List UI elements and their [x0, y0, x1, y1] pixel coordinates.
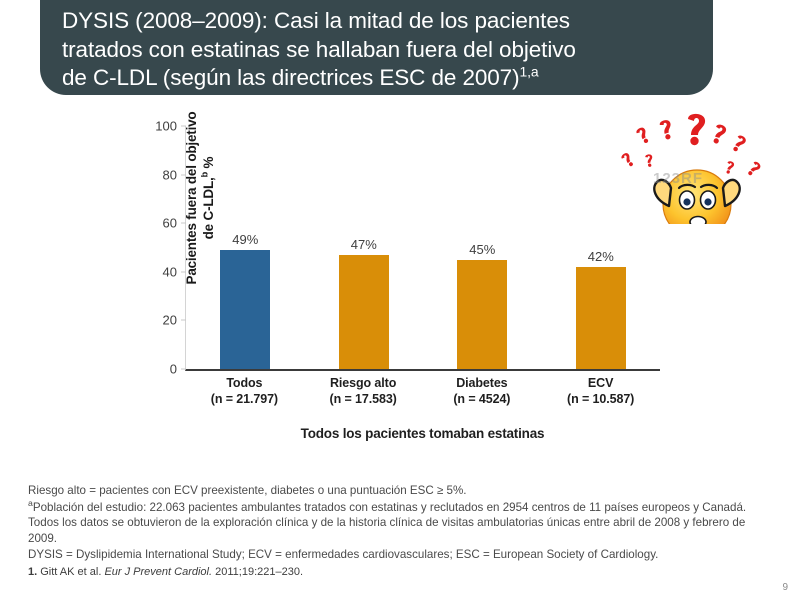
footnotes-block: Riesgo alto = pacientes con ECV preexist…: [28, 483, 776, 581]
bar-value-label: 49%: [232, 232, 258, 247]
plot-frame: 100806040200 49%47%45%42%: [185, 126, 660, 371]
reference-authors: Gitt AK et al.: [37, 566, 104, 578]
x-axis-category-labels: Todos(n = 21.797)Riesgo alto(n = 17.583)…: [185, 375, 660, 407]
bar-chart: Pacientes fuera del objetivo de C-LDL,b …: [100, 118, 680, 463]
reference-citation: 1. Gitt AK et al. Eur J Prevent Cardiol.…: [28, 565, 776, 581]
title-line-2: tratados con estatinas se hallaban fuera…: [62, 37, 576, 62]
bar[interactable]: [457, 260, 507, 369]
category-name: Todos: [185, 375, 304, 391]
category-sample-size: (n = 17.583): [304, 391, 423, 407]
category-name: Riesgo alto: [304, 375, 423, 391]
category-sample-size: (n = 4524): [423, 391, 542, 407]
page-number: 9: [782, 582, 788, 593]
category-name: ECV: [541, 375, 660, 391]
x-axis-category-label: Todos(n = 21.797): [185, 375, 304, 407]
x-axis-category-label: ECV(n = 10.587): [541, 375, 660, 407]
bar-value-label: 47%: [351, 237, 377, 252]
x-axis-category-label: Diabetes(n = 4524): [423, 375, 542, 407]
bar-series: 49%47%45%42%: [186, 126, 660, 369]
footnote-line-2: aPoblación del estudio: 22.063 pacientes…: [28, 500, 776, 547]
reference-journal: Eur J Prevent Cardiol.: [104, 566, 212, 578]
category-name: Diabetes: [423, 375, 542, 391]
category-sample-size: (n = 10.587): [541, 391, 660, 407]
confused-emoji-icon: 123RF: [605, 112, 795, 224]
bar-value-label: 42%: [588, 249, 614, 264]
footnote-line-2-text: Población del estudio: 22.063 pacientes …: [28, 501, 746, 545]
bar-group: 49%: [186, 126, 305, 369]
footnote-abbreviations: DYSIS = Dyslipidemia International Study…: [28, 547, 776, 563]
reference-number: 1.: [28, 566, 37, 578]
title-superscript: 1,a: [520, 64, 539, 80]
title-line-1: DYSIS (2008–2009): Casi la mitad de los …: [62, 8, 570, 33]
x-axis-category-label: Riesgo alto(n = 17.583): [304, 375, 423, 407]
slide-title-banner: DYSIS (2008–2009): Casi la mitad de los …: [40, 0, 713, 95]
bar[interactable]: [339, 255, 389, 369]
plot-area: 100806040200 49%47%45%42%: [185, 126, 660, 371]
bar-value-label: 45%: [469, 242, 495, 257]
footnote-line-1: Riesgo alto = pacientes con ECV preexist…: [28, 483, 776, 499]
title-line-3: de C-LDL (según las directrices ESC de 2…: [62, 65, 520, 90]
reference-volume-pages: 2011;19:221–230.: [212, 566, 303, 578]
bar-group: 45%: [423, 126, 542, 369]
bar[interactable]: [220, 250, 270, 369]
bar-group: 47%: [305, 126, 424, 369]
bar[interactable]: [576, 267, 626, 369]
page-title: DYSIS (2008–2009): Casi la mitad de los …: [62, 7, 576, 93]
x-axis-title: Todos los pacientes tomaban estatinas: [185, 426, 660, 441]
category-sample-size: (n = 21.797): [185, 391, 304, 407]
